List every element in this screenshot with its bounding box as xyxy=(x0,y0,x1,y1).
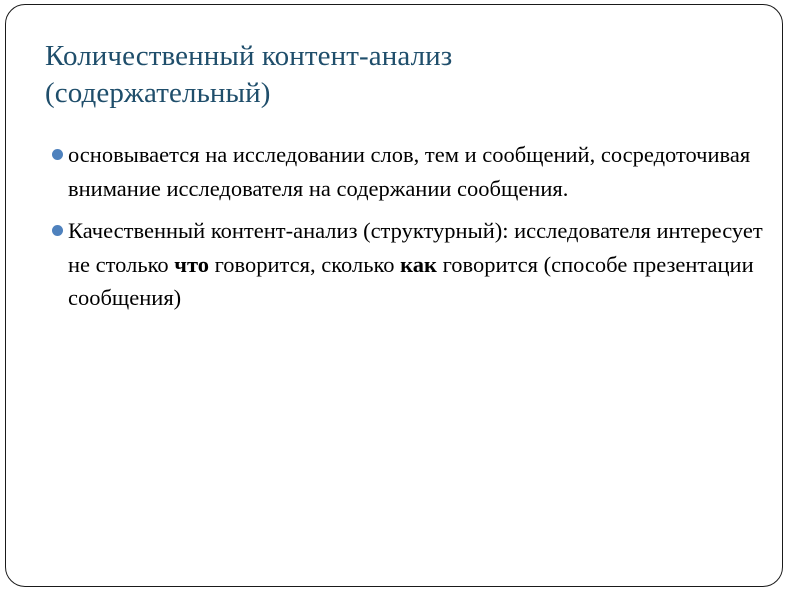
list-item: Качественный контент-анализ (структурный… xyxy=(45,214,783,315)
page-title: Количественный контент-анализ (содержате… xyxy=(45,38,745,112)
page-title-line-1: Количественный контент-анализ xyxy=(45,38,745,75)
slide-frame: Количественный контент-анализ (содержате… xyxy=(5,4,783,587)
list-item-text: Качественный контент-анализ (структурный… xyxy=(68,214,783,315)
list-item: основывается на исследовании слов, тем и… xyxy=(45,138,783,205)
list-item-text: основывается на исследовании слов, тем и… xyxy=(68,138,783,205)
bullet-dot-icon xyxy=(52,149,63,160)
page-title-line-2: (содержательный) xyxy=(45,75,745,112)
bullet-list: основывается на исследовании слов, тем и… xyxy=(45,138,783,324)
list-item-text-part-2: говорится, сколько xyxy=(209,252,400,277)
bullet-dot-icon xyxy=(52,225,63,236)
emphasis-chto: что xyxy=(174,252,209,277)
emphasis-kak: как xyxy=(400,252,437,277)
